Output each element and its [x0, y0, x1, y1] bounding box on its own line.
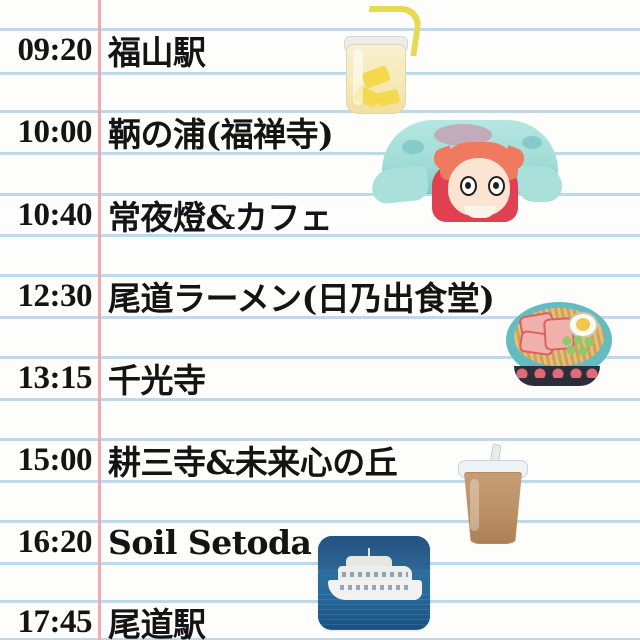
- jellyfish-spot-icon: [522, 136, 542, 149]
- lemon-slice-icon: [361, 65, 391, 89]
- schedule-title: 福山駅: [96, 26, 206, 74]
- ferry-photo-sticker: [318, 536, 430, 630]
- ramen-bowl-sticker: [504, 292, 614, 390]
- schedule-time: 12:30: [0, 278, 96, 315]
- schedule-time: 15:00: [0, 442, 96, 479]
- ponyo-character-sticker: [372, 118, 562, 228]
- boiled-egg-icon: [568, 312, 598, 338]
- lemon-slice-icon: [376, 89, 400, 107]
- schedule-time: 10:00: [0, 114, 96, 151]
- ferry-window-row-icon: [340, 585, 410, 590]
- iced-coffee-sticker: [456, 444, 528, 548]
- schedule-title: Soil Setoda: [96, 523, 311, 562]
- jellyfish-right-arm-icon: [518, 166, 562, 202]
- schedule-time: 17:45: [0, 604, 96, 640]
- itinerary-page: 09:20福山駅10:00鞆の浦(福禅寺)10:40常夜燈&カフェ12:30尾道…: [0, 0, 640, 640]
- ponyo-left-eye-icon: [460, 176, 477, 196]
- schedule-title: 耕三寺&未来心の丘: [96, 436, 397, 484]
- schedule-title: 尾道ラーメン(日乃出食堂): [96, 272, 494, 320]
- lemonade-jar-sticker: [338, 4, 412, 116]
- schedule-title: 尾道駅: [96, 598, 206, 640]
- ramen-bowl-pattern-icon: [514, 366, 600, 386]
- jar-body-icon: [346, 44, 406, 114]
- ferry-window-row-icon: [342, 572, 408, 577]
- schedule-row[interactable]: 09:20福山駅: [0, 28, 640, 72]
- ponyo-right-eye-icon: [488, 176, 505, 196]
- scallion-icon: [562, 336, 596, 358]
- jellyfish-spot-icon: [402, 140, 424, 154]
- coffee-cup-icon: [464, 472, 522, 544]
- schedule-row[interactable]: 15:00耕三寺&未来心の丘: [0, 438, 640, 482]
- schedule-title: 常夜燈&カフェ: [96, 191, 332, 239]
- schedule-time: 16:20: [0, 524, 96, 561]
- schedule-time: 10:40: [0, 197, 96, 234]
- schedule-title: 鞆の浦(福禅寺): [96, 108, 333, 156]
- ferry-hull-icon: [328, 580, 422, 600]
- schedule-time: 09:20: [0, 32, 96, 69]
- schedule-title: 千光寺: [96, 354, 206, 402]
- jellyfish-left-arm-icon: [370, 165, 429, 205]
- schedule-time: 13:15: [0, 360, 96, 397]
